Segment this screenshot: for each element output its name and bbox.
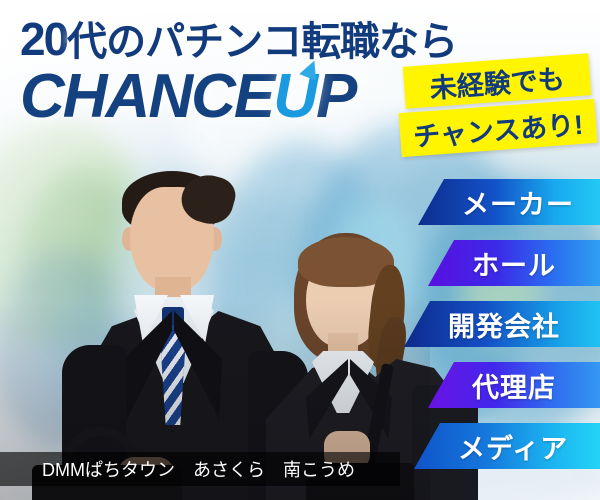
advertisement-banner[interactable]: 20代のパチンコ転職なら CHANCEUP 未経験でも チャンスあり! メーカー… <box>0 0 600 500</box>
caption-text: DMMぱちタウン あさくら 南こうめ <box>42 456 355 482</box>
badge-no-experience-label: 未経験でも <box>428 57 565 106</box>
headline-rest: 代のパチンコ転職なら <box>67 20 457 64</box>
category-button-agency[interactable]: 代理店 <box>428 362 600 408</box>
category-button-hall-label: ホール <box>472 244 556 283</box>
category-button-maker-label: メーカー <box>462 183 574 222</box>
category-button-development-company[interactable]: 開発会社 <box>404 301 600 347</box>
category-button-media-label: メディア <box>458 427 568 466</box>
logo-word-chance: CHANCE <box>20 62 273 131</box>
category-button-maker[interactable]: メーカー <box>418 179 600 225</box>
category-button-media[interactable]: メディア <box>414 423 600 469</box>
logo-letter-p: P <box>316 62 355 131</box>
caption-band: DMMぱちタウン あさくら 南こうめ <box>0 452 400 486</box>
category-button-hall[interactable]: ホール <box>428 240 600 286</box>
category-button-agency-label: 代理店 <box>472 366 556 405</box>
headline-number: 20 <box>20 13 67 65</box>
logo-letter-u: U <box>273 66 316 128</box>
headline-text: 20代のパチンコ転職なら <box>20 16 457 62</box>
category-button-development-company-label: 開発会社 <box>448 305 560 344</box>
chance-up-logo: CHANCEUP <box>20 66 355 128</box>
